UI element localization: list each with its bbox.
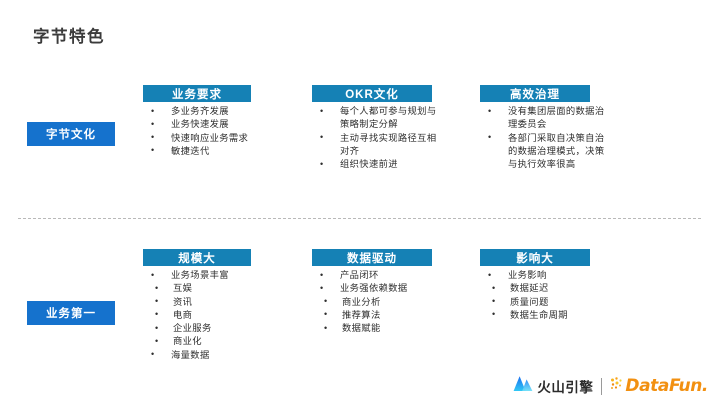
card-header: OKR文化 — [312, 85, 432, 102]
bullet-list: 多业务齐发展 业务快速发展 快速响应业务需求 敏捷迭代 — [143, 105, 251, 158]
card-header: 业务要求 — [143, 85, 251, 102]
list-item: 各部门采取自决策自治的数据治理模式，决策与执行效率很高 — [480, 132, 608, 172]
footer-separator — [601, 378, 602, 395]
bullet-list: 业务场景丰富 — [143, 269, 273, 282]
card-header: 影响大 — [480, 249, 590, 266]
list-item: 业务场景丰富 — [143, 269, 273, 282]
list-item: 电商 — [143, 309, 273, 322]
volcano-engine-logo: 火山引擎 — [513, 375, 593, 397]
bullet-sublist: 数据延迟 质量问题 数据生命周期 — [480, 282, 610, 322]
list-item: 组织快速前进 — [312, 158, 444, 171]
bullet-list: 业务影响 — [480, 269, 610, 282]
page-title: 字节特色 — [33, 23, 105, 47]
list-item: 多业务齐发展 — [143, 105, 251, 118]
volcano-engine-name: 火山引擎 — [537, 376, 593, 396]
card-body: 每个人都可参与规划与策略制定分解 主动寻找实现路径互相对齐 组织快速前进 — [312, 102, 444, 171]
row-label-business-first: 业务第一 — [27, 301, 115, 325]
bullet-sublist: 互娱 资讯 电商 企业服务 商业化 — [143, 282, 273, 348]
footer-logos: 火山引擎 DataFun. — [513, 375, 708, 397]
list-item: 资讯 — [143, 296, 273, 309]
card-business-requirements: 业务要求 多业务齐发展 业务快速发展 快速响应业务需求 敏捷迭代 — [143, 85, 251, 158]
bullet-list: 没有集团层面的数据治理委员会 各部门采取自决策自治的数据治理模式，决策与执行效率… — [480, 105, 608, 171]
mountain-icon — [513, 375, 533, 397]
card-body: 业务场景丰富 互娱 资讯 电商 企业服务 商业化 海量数据 — [143, 266, 273, 362]
card-body: 业务影响 数据延迟 质量问题 数据生命周期 — [480, 266, 610, 322]
list-item: 质量问题 — [480, 296, 610, 309]
list-item: 没有集团层面的数据治理委员会 — [480, 105, 608, 132]
list-item: 互娱 — [143, 282, 273, 295]
list-item: 业务强依赖数据 — [312, 282, 442, 295]
card-header: 规模大 — [143, 249, 251, 266]
card-data-driven: 数据驱动 产品闭环 业务强依赖数据 商业分析 推荐算法 数据赋能 — [312, 249, 432, 335]
row-label-culture: 字节文化 — [27, 122, 115, 146]
card-header: 高效治理 — [480, 85, 590, 102]
card-big-impact: 影响大 业务影响 数据延迟 质量问题 数据生命周期 — [480, 249, 590, 322]
section-divider — [18, 218, 701, 219]
datafun-name: DataFun. — [625, 376, 708, 396]
list-item: 海量数据 — [143, 349, 273, 362]
list-item: 数据延迟 — [480, 282, 610, 295]
list-item: 业务影响 — [480, 269, 610, 282]
card-efficient-governance: 高效治理 没有集团层面的数据治理委员会 各部门采取自决策自治的数据治理模式，决策… — [480, 85, 590, 171]
datafun-logo: DataFun. — [610, 376, 708, 396]
card-body: 没有集团层面的数据治理委员会 各部门采取自决策自治的数据治理模式，决策与执行效率… — [480, 102, 608, 171]
list-item: 每个人都可参与规划与策略制定分解 — [312, 105, 444, 132]
list-item: 数据生命周期 — [480, 309, 610, 322]
list-item: 业务快速发展 — [143, 118, 251, 131]
list-item: 商业分析 — [312, 296, 442, 309]
card-okr-culture: OKR文化 每个人都可参与规划与策略制定分解 主动寻找实现路径互相对齐 组织快速… — [312, 85, 432, 171]
list-item: 企业服务 — [143, 322, 273, 335]
list-item: 推荐算法 — [312, 309, 442, 322]
card-large-scale: 规模大 业务场景丰富 互娱 资讯 电商 企业服务 商业化 海量数据 — [143, 249, 251, 362]
card-header: 数据驱动 — [312, 249, 432, 266]
dots-icon — [610, 376, 624, 396]
card-body: 产品闭环 业务强依赖数据 商业分析 推荐算法 数据赋能 — [312, 266, 442, 335]
bullet-list: 海量数据 — [143, 349, 273, 362]
bullet-list: 每个人都可参与规划与策略制定分解 主动寻找实现路径互相对齐 组织快速前进 — [312, 105, 444, 171]
list-item: 产品闭环 — [312, 269, 442, 282]
bullet-sublist: 商业分析 推荐算法 数据赋能 — [312, 296, 442, 336]
list-item: 数据赋能 — [312, 322, 442, 335]
bullet-list: 产品闭环 业务强依赖数据 — [312, 269, 442, 296]
list-item: 快速响应业务需求 — [143, 132, 251, 145]
card-body: 多业务齐发展 业务快速发展 快速响应业务需求 敏捷迭代 — [143, 102, 251, 158]
list-item: 敏捷迭代 — [143, 145, 251, 158]
list-item: 主动寻找实现路径互相对齐 — [312, 132, 444, 159]
slide-canvas: 字节特色 字节文化 业务要求 多业务齐发展 业务快速发展 快速响应业务需求 敏捷… — [0, 0, 720, 405]
list-item: 商业化 — [143, 335, 273, 348]
